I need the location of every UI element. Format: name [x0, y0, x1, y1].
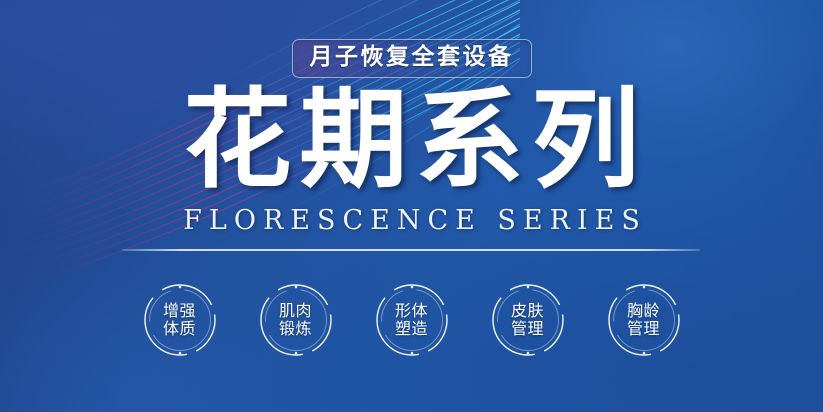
feature-circle[interactable]: 肌肉 锻炼: [257, 281, 335, 359]
feature-circle-label: 增强 体质: [163, 302, 196, 338]
feature-circle-label: 胸龄 管理: [627, 302, 660, 338]
feature-circle-label: 肌肉 锻炼: [279, 302, 312, 338]
divider: [122, 249, 700, 251]
feature-circle-label: 皮肤 管理: [511, 302, 544, 338]
feature-circle[interactable]: 形体 塑造: [373, 281, 451, 359]
promo-banner: 月子恢复全套设备 花期系列 FLORESCENCE SERIES 增强 体质: [0, 0, 823, 412]
feature-circle[interactable]: 皮肤 管理: [489, 281, 567, 359]
subtitle: FLORESCENCE SERIES: [0, 205, 823, 236]
feature-circle[interactable]: 胸龄 管理: [605, 281, 683, 359]
feature-circle-label: 形体 塑造: [395, 302, 428, 338]
page-title: 花期系列: [0, 84, 823, 197]
feature-circle[interactable]: 增强 体质: [141, 281, 219, 359]
badge-label: 月子恢复全套设备: [292, 39, 532, 78]
feature-circle-list: 增强 体质 肌肉 锻炼 形体 塑造: [0, 281, 823, 359]
